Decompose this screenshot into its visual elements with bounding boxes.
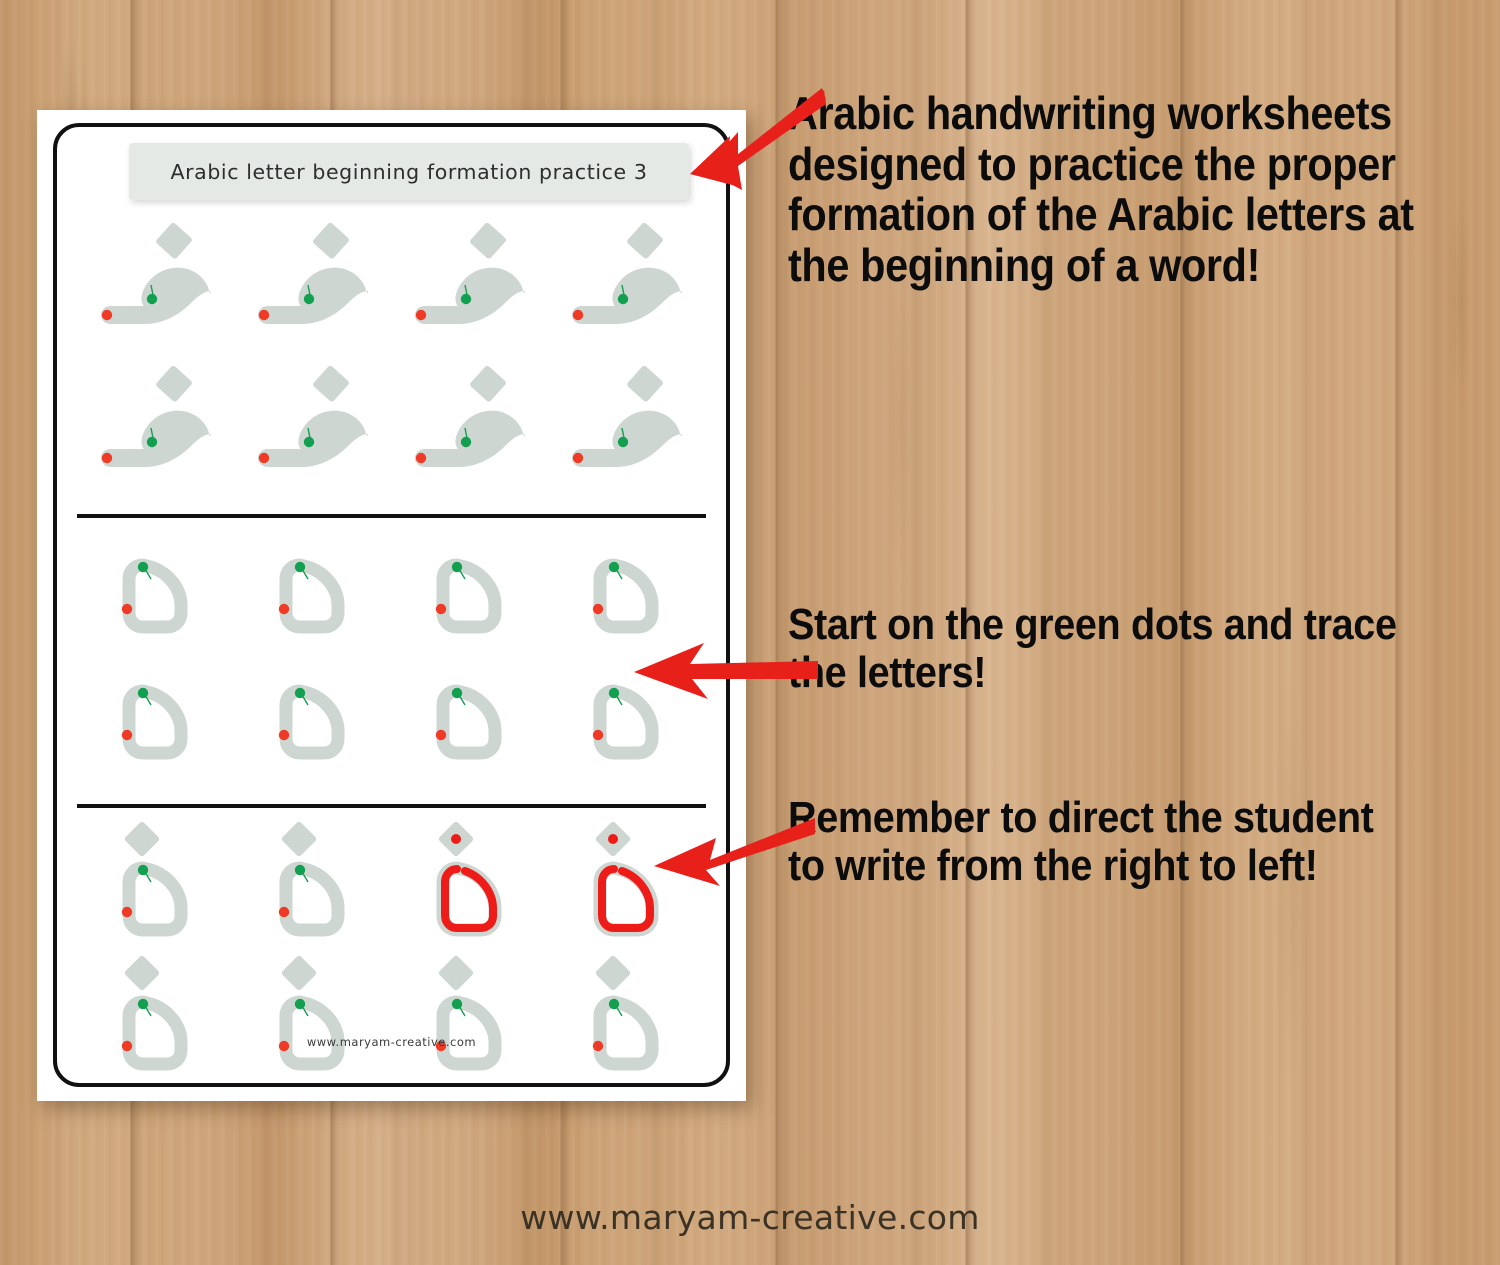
end-dot-red [593, 730, 603, 740]
letter-cell-dhaal[interactable] [395, 958, 545, 1088]
start-dot-green [304, 437, 314, 447]
start-dot-green [295, 999, 305, 1009]
dhaal-guide-glyph [443, 1002, 495, 1064]
letter-cell-khaa[interactable] [552, 216, 702, 346]
practice-section-daal [77, 516, 706, 806]
letter-cell-daal[interactable] [395, 538, 545, 668]
start-dot-green [618, 294, 628, 304]
khaa-guide-glyph [101, 365, 211, 467]
daal-guide-glyph [286, 691, 338, 753]
end-dot-red [573, 453, 583, 463]
worksheet-title-banner: Arabic letter beginning formation practi… [129, 143, 689, 200]
end-dot-red [121, 604, 131, 614]
dhaal-guide-glyph [129, 868, 181, 930]
start-dot-green [452, 688, 462, 698]
end-dot-red [279, 730, 289, 740]
arrow-to-green-dot [628, 639, 818, 709]
annotation-text-3: Remember to direct the student to write … [788, 794, 1418, 891]
annotation-text-2: Start on the green dots and trace the le… [788, 601, 1454, 698]
dhaal-guide-glyph [443, 868, 495, 930]
end-dot-red [121, 730, 131, 740]
start-dot-green [137, 865, 147, 875]
start-dot-green [137, 688, 147, 698]
worksheet-title: Arabic letter beginning formation practi… [171, 160, 648, 184]
dhaal-guide-glyph [286, 868, 338, 930]
traced-dot-red [451, 834, 461, 844]
start-dot-green [295, 562, 305, 572]
letter-cell-dhaal[interactable] [238, 958, 388, 1088]
letter-cell-khaa[interactable] [395, 359, 545, 489]
daal-guide-glyph [443, 565, 495, 627]
letter-cell-khaa[interactable] [238, 216, 388, 346]
start-dot-green [137, 562, 147, 572]
start-dot-green [609, 688, 619, 698]
dhaal-dot-diamond [123, 821, 160, 858]
annotation-text-1: Arabic handwriting worksheets designed t… [788, 88, 1454, 290]
dhaal-dot-diamond [123, 955, 160, 992]
start-dot-green [461, 294, 471, 304]
letter-cell-dhaal-traced[interactable] [395, 824, 545, 954]
end-dot-red [259, 310, 269, 320]
start-dot-green [146, 294, 156, 304]
letter-cell-dhaal[interactable] [238, 824, 388, 954]
start-dot-green [304, 294, 314, 304]
arrow-to-traced-letter [650, 818, 815, 903]
bottom-watermark: www.maryam-creative.com [0, 1198, 1500, 1237]
khaa-guide-glyph [572, 365, 682, 467]
khaa-guide-glyph [572, 222, 682, 324]
end-dot-red [259, 453, 269, 463]
khaa-guide-glyph [415, 365, 525, 467]
start-dot-green [452, 999, 462, 1009]
letter-row [77, 538, 706, 668]
dhaal-dot-diamond [438, 955, 475, 992]
start-dot-green [137, 999, 147, 1009]
daal-guide-glyph [286, 565, 338, 627]
worksheet-footer-url: www.maryam-creative.com [57, 1035, 726, 1049]
khaa-guide-glyph [258, 222, 368, 324]
worksheet-border-frame: Arabic letter beginning formation practi… [53, 123, 730, 1087]
khaa-guide-glyph [101, 222, 211, 324]
traced-dot-red [608, 834, 618, 844]
dhaal-dot-diamond [280, 821, 317, 858]
letter-cell-dhaal[interactable] [81, 958, 231, 1088]
letter-row [77, 664, 706, 794]
end-dot-red [436, 604, 446, 614]
daal-guide-glyph [443, 691, 495, 753]
letter-cell-daal[interactable] [81, 538, 231, 668]
letter-cell-khaa[interactable] [238, 359, 388, 489]
end-dot-red [416, 453, 426, 463]
dhaal-dot-diamond [595, 955, 632, 992]
start-dot-green [295, 865, 305, 875]
khaa-guide-glyph [258, 365, 368, 467]
letter-cell-daal[interactable] [238, 538, 388, 668]
letter-row [77, 958, 706, 1088]
dhaal-guide-glyph [129, 1002, 181, 1064]
letter-row [77, 824, 706, 954]
end-dot-red [121, 907, 131, 917]
start-dot-green [295, 688, 305, 698]
dhaal-guide-glyph [600, 1002, 652, 1064]
letter-cell-khaa[interactable] [81, 216, 231, 346]
worksheet-page: Arabic letter beginning formation practi… [37, 110, 746, 1101]
letter-cell-dhaal[interactable] [552, 958, 702, 1088]
end-dot-red [279, 604, 289, 614]
daal-guide-glyph [129, 565, 181, 627]
end-dot-red [101, 453, 111, 463]
dhaal-guide-glyph [600, 868, 652, 930]
start-dot-green [452, 562, 462, 572]
start-dot-green [146, 437, 156, 447]
start-dot-green [618, 437, 628, 447]
letter-row [77, 359, 706, 489]
end-dot-red [573, 310, 583, 320]
start-dot-green [461, 437, 471, 447]
letter-cell-khaa[interactable] [81, 359, 231, 489]
start-dot-green [609, 562, 619, 572]
khaa-guide-glyph [415, 222, 525, 324]
dhaal-guide-glyph [286, 1002, 338, 1064]
letter-cell-khaa[interactable] [395, 216, 545, 346]
end-dot-red [436, 730, 446, 740]
end-dot-red [279, 907, 289, 917]
letter-row [77, 216, 706, 346]
daal-guide-glyph [129, 691, 181, 753]
letter-cell-dhaal[interactable] [81, 824, 231, 954]
arrow-to-worksheet-title [676, 86, 826, 196]
practice-section-dhaal [77, 806, 706, 1104]
dhaal-dot-diamond [280, 955, 317, 992]
start-dot-green [609, 999, 619, 1009]
letter-cell-khaa[interactable] [552, 359, 702, 489]
end-dot-red [101, 310, 111, 320]
end-dot-red [593, 604, 603, 614]
daal-guide-glyph [600, 565, 652, 627]
letter-cell-daal[interactable] [395, 664, 545, 794]
letter-cell-daal[interactable] [238, 664, 388, 794]
letter-cell-daal[interactable] [81, 664, 231, 794]
end-dot-red [416, 310, 426, 320]
